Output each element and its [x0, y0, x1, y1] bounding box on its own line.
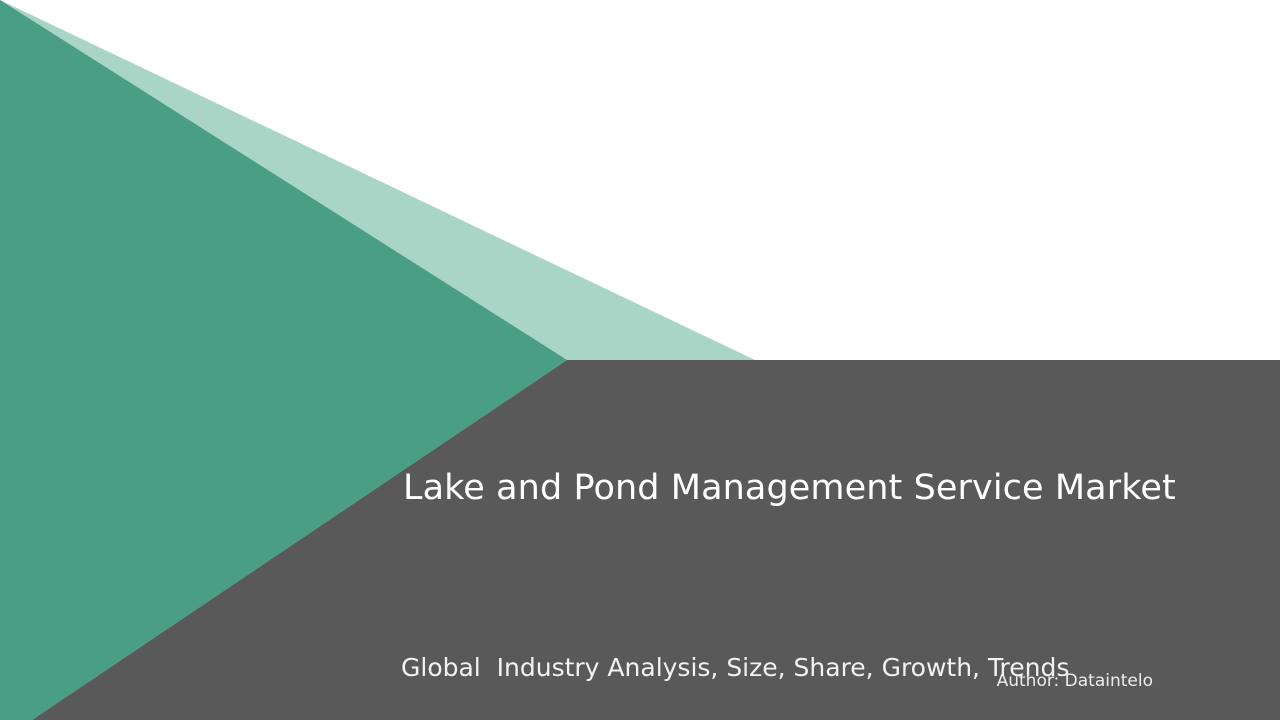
subtitle-block: Global Industry Analysis, Size, Share, G…: [401, 538, 1231, 720]
report-cover-slide: Lake and Pond Management Service Market …: [0, 0, 1280, 720]
cover-text-block: Lake and Pond Management Service Market …: [0, 360, 1280, 720]
page-title: Lake and Pond Management Service Market: [403, 466, 1253, 510]
author-label: Author: Dataintelo: [401, 670, 1153, 692]
